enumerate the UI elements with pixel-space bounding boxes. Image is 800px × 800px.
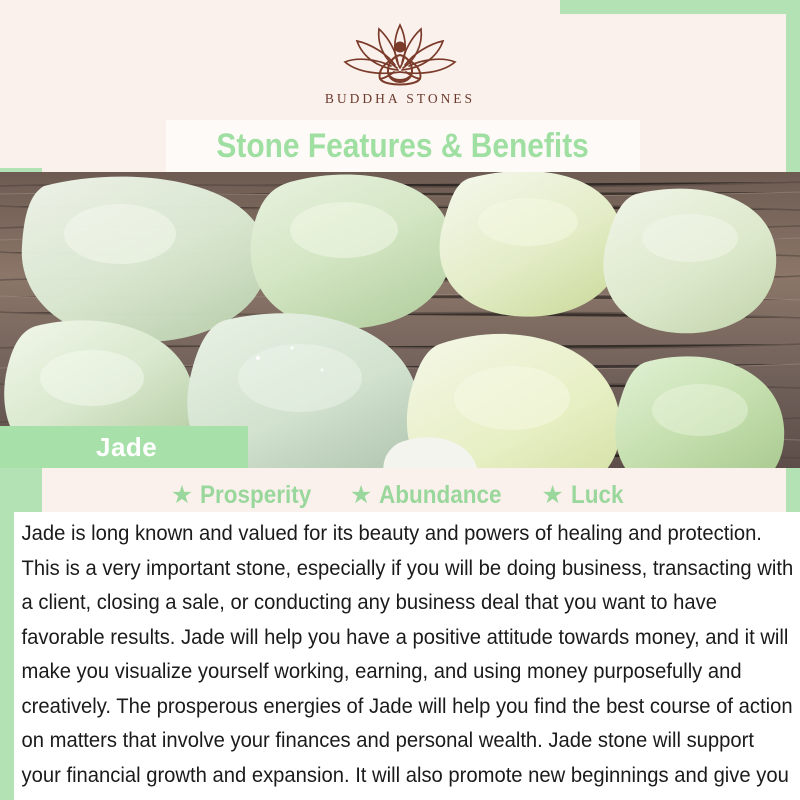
description-block: Jade is long known and valued for its be… (14, 512, 800, 800)
benefit-item: ★ Prosperity (171, 481, 324, 510)
brand-header: BUDDHA STONES (0, 0, 800, 120)
benefit-label: Prosperity (200, 481, 311, 510)
benefit-label: Abundance (379, 481, 502, 510)
star-icon: ★ (350, 483, 372, 508)
page-title: Stone Features & Benefits (217, 127, 589, 166)
infographic-page: BUDDHA STONES Stone Features & Benefits (0, 0, 800, 800)
benefit-label: Luck (571, 481, 624, 510)
description-text: Jade is long known and valued for its be… (14, 516, 799, 800)
section-title-banner: Stone Features & Benefits (166, 120, 640, 172)
benefit-item: ★ Abundance (350, 481, 516, 510)
hero-image (0, 172, 800, 468)
benefits-row: ★ Prosperity ★ Abundance ★ Luck (0, 478, 800, 512)
stone-name-text: Jade (96, 432, 157, 463)
star-icon: ★ (171, 483, 193, 508)
stone-name-label: Jade (0, 426, 248, 468)
benefit-item: ★ Luck (541, 481, 629, 510)
star-icon: ★ (541, 483, 563, 508)
lotus-meditation-icon (325, 16, 475, 88)
brand-wordmark: BUDDHA STONES (325, 91, 475, 107)
